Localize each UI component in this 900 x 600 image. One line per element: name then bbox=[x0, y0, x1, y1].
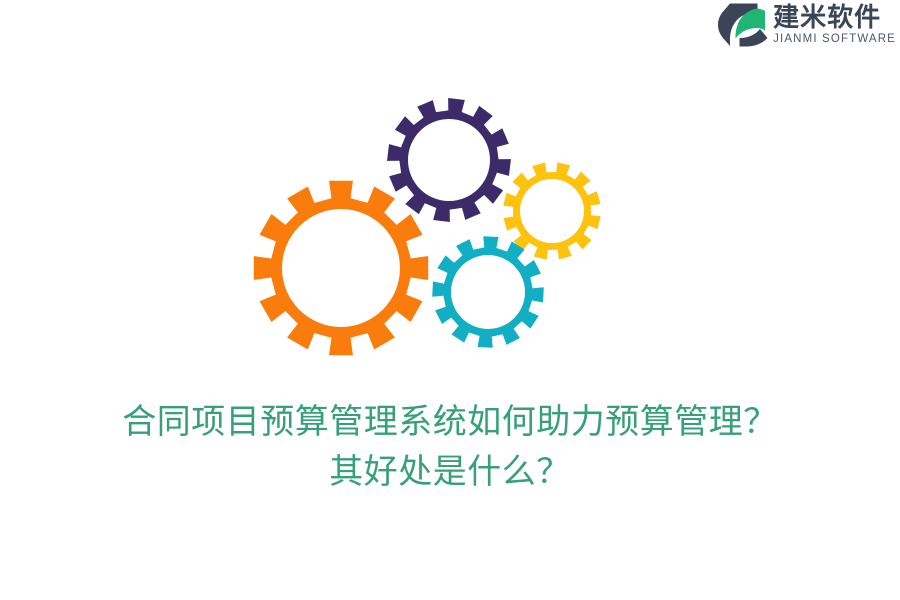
gear-purple-shape bbox=[387, 98, 511, 222]
gear-teal bbox=[432, 236, 544, 348]
brand-logo[interactable]: 建米软件 JIANMI SOFTWARE bbox=[717, 0, 900, 48]
jianmi-leaf-hexagon-logo-icon bbox=[717, 2, 769, 48]
gears-illustration bbox=[0, 80, 900, 380]
gear-teal-shape bbox=[432, 236, 544, 348]
brand-name: 建米软件 bbox=[773, 3, 881, 31]
gear-orange-shape bbox=[254, 181, 428, 355]
gears-illustration-svg bbox=[0, 80, 900, 380]
gear-yellow-shape bbox=[503, 162, 600, 259]
brand-subtitle: JIANMI SOFTWARE bbox=[773, 32, 896, 46]
page-headline: 合同项目预算管理系统如何助力预算管理？ 其好处是什么？ bbox=[0, 398, 900, 498]
headline-line-2: 其好处是什么？ bbox=[0, 448, 900, 498]
headline-line-1: 合同项目预算管理系统如何助力预算管理？ bbox=[0, 398, 900, 448]
gear-purple bbox=[387, 98, 511, 222]
gear-yellow bbox=[503, 162, 600, 259]
gear-orange bbox=[254, 181, 428, 355]
brand-text-block: 建米软件 JIANMI SOFTWARE bbox=[773, 2, 896, 46]
